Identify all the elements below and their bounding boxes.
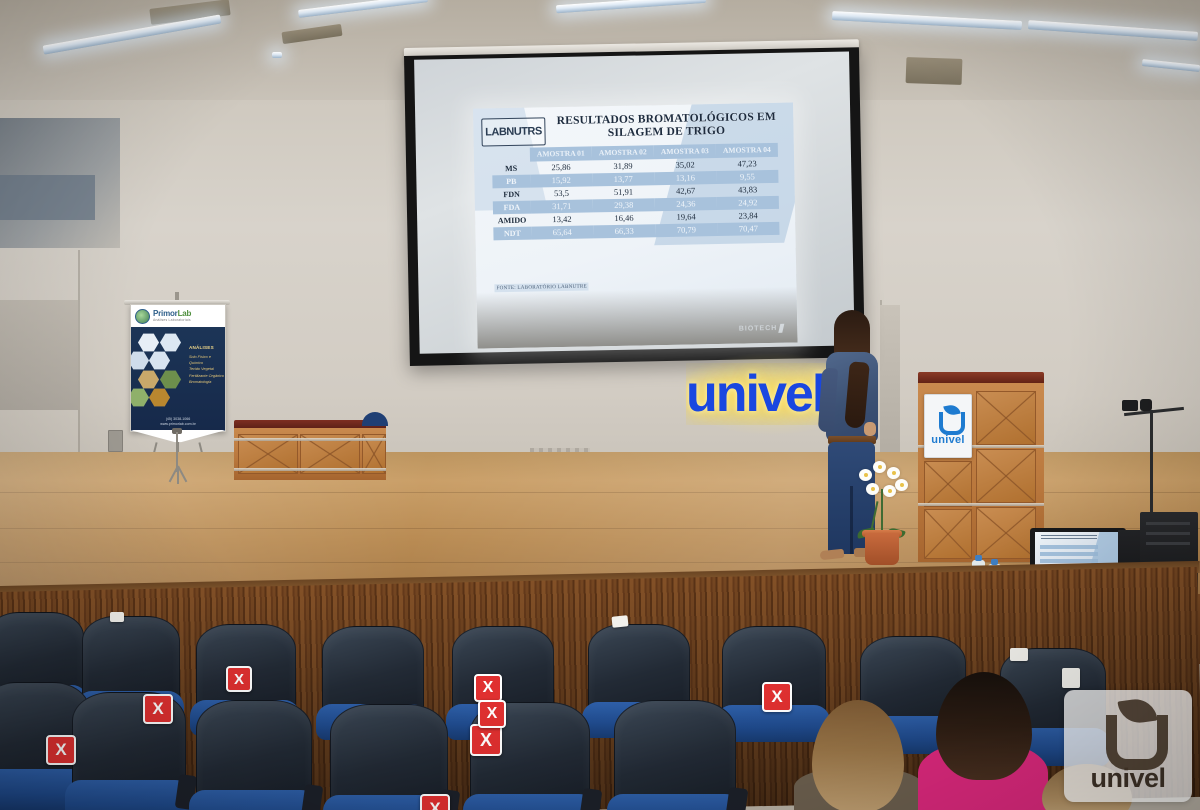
hex-icon-3	[130, 351, 149, 370]
cell-fdn-2: 51,91	[592, 185, 654, 199]
orchid-center	[892, 471, 896, 475]
col-amostra-03: AMOSTRA 03	[654, 144, 716, 159]
cell-ndt-1: 65,64	[531, 225, 593, 239]
cell-fda-2: 29,38	[593, 198, 655, 212]
orchid-bloom	[866, 483, 879, 495]
seat-cushion	[65, 780, 190, 810]
orchid-bloom	[873, 461, 886, 473]
cell-pb-2: 13,77	[592, 172, 654, 186]
wall-acoustic-panel	[0, 175, 95, 220]
list-item: Fertilizante Orgânico	[189, 373, 225, 379]
bottle-cap	[991, 559, 998, 565]
wall-socket-2	[108, 430, 123, 452]
stage-table	[234, 420, 386, 480]
banner-brand-name: PrimorLab	[153, 310, 191, 318]
distancing-sticker: X	[474, 674, 502, 702]
cell-amido-2: 16,46	[593, 211, 655, 225]
banner-tagline: Análises Laboratoriais	[153, 318, 191, 322]
floor-plank-line	[0, 562, 1200, 563]
hex-icon-1	[138, 333, 159, 352]
lectern-x-panel	[924, 509, 972, 559]
projected-slide: LABNUTRS RESULTADOS BROMATOLÓGICOS EM SI…	[473, 103, 798, 349]
orchid-bloom	[859, 469, 872, 481]
univel-logo-icon	[1100, 701, 1156, 761]
hex-icon-6	[160, 370, 181, 389]
hex-icon-5	[138, 370, 159, 389]
seat-armrest	[301, 783, 324, 810]
camera-icon	[1122, 400, 1138, 411]
banner-header: PrimorLab Análises Laboratoriais	[131, 305, 226, 327]
univel-watermark: univel	[1064, 690, 1192, 802]
presenter-shoe-left	[820, 549, 845, 560]
distancing-sticker: X	[762, 682, 792, 712]
mic-stand-leg	[177, 466, 179, 484]
distancing-sticker: X	[46, 735, 76, 765]
orchid-plant	[855, 455, 909, 565]
microphone-stand	[160, 432, 194, 484]
orchid-stem	[881, 489, 883, 535]
col-amostra-02: AMOSTRA 02	[592, 145, 654, 160]
row-label-ndt: NDT	[493, 227, 531, 241]
lectern-x-panel	[976, 507, 1036, 559]
labnutrs-logo: LABNUTRS	[481, 117, 546, 146]
lectern-x-panel	[924, 461, 972, 507]
cell-ndt-2: 66,33	[593, 224, 655, 238]
cell-pb-1: 15,92	[530, 173, 592, 187]
lectern-univel-text: univel	[931, 434, 965, 446]
cell-ndt-3: 70,79	[655, 223, 717, 237]
orchid-center	[900, 483, 904, 487]
wall-seam-left	[78, 250, 80, 460]
tripod-mast	[1150, 410, 1153, 518]
distancing-sticker: X	[226, 666, 252, 692]
orchid-center	[878, 465, 882, 469]
ceiling-light-recess-8	[906, 57, 963, 85]
seat-armrest	[724, 787, 748, 810]
hex-icon-7	[149, 388, 170, 407]
col-amostra-01: AMOSTRA 01	[530, 146, 592, 161]
cell-fda-1: 31,71	[531, 199, 593, 213]
projection-screen: LABNUTRS RESULTADOS BROMATOLÓGICOS EM SI…	[404, 47, 865, 366]
ceiling-light-9	[272, 52, 282, 58]
seat-cushion	[189, 790, 317, 810]
distancing-sticker: X	[478, 700, 506, 728]
slide-lower-shadow	[477, 287, 798, 349]
cell-ms-3: 35,02	[654, 158, 716, 172]
col-amostra-04: AMOSTRA 04	[716, 143, 778, 158]
stage-table-body	[234, 428, 386, 480]
cell-fdn-4: 43,83	[716, 183, 778, 197]
audience-hair	[812, 700, 904, 810]
banner-brand-block: PrimorLab Análises Laboratoriais	[153, 310, 191, 322]
cell-fda-4: 24,92	[717, 196, 779, 210]
distancing-sticker: X	[143, 694, 173, 724]
bottle-cap	[975, 555, 982, 561]
orchid-bloom	[883, 485, 896, 497]
lectern-x-panel	[976, 449, 1036, 503]
hex-icon-2	[160, 333, 181, 352]
cell-pb-4: 9,55	[716, 170, 778, 184]
cell-ms-1: 25,86	[530, 160, 592, 174]
wall-side-panel	[0, 300, 78, 410]
univel-u-shape	[939, 412, 965, 435]
row-label-fda: FDA	[493, 201, 531, 215]
banner-contact: (45) 3038-1066 www.primorlab.com.br	[131, 417, 225, 427]
cell-fdn-3: 42,67	[654, 184, 716, 198]
seat-cushion	[463, 794, 595, 810]
distancing-sticker: X	[470, 724, 502, 756]
orchid-center	[864, 473, 868, 477]
monitor-slide-row	[1040, 552, 1098, 556]
orchid-center	[888, 489, 892, 493]
audience-head-dark	[936, 672, 1032, 780]
row-label-fdn: FDN	[493, 188, 531, 202]
list-item: Solo Físico e Químico	[189, 354, 225, 366]
hex-icon-8	[130, 388, 149, 407]
row-label-pb: PB	[492, 175, 530, 189]
results-table-corner	[492, 148, 530, 163]
banner-navy-field: ANÁLISES Solo Físico e Químico Tecido Ve…	[131, 327, 225, 431]
cell-amido-3: 19,64	[655, 210, 717, 224]
presenter-hand	[864, 422, 876, 436]
cell-ndt-4: 70,47	[717, 222, 779, 236]
slide-title: RESULTADOS BROMATOLÓGICOS EM SILAGEM DE …	[547, 111, 785, 142]
audience-head-blonde	[812, 700, 904, 810]
table-rail	[234, 468, 386, 471]
primorlab-leaf-icon	[135, 309, 150, 324]
audience-hair	[936, 672, 1032, 780]
seat-reserved-card	[1062, 668, 1080, 688]
seat	[614, 700, 734, 810]
banner-brand-primor: Primor	[153, 309, 178, 318]
monitor-slide-title	[1041, 535, 1097, 541]
list-item: Bromatologia	[189, 379, 225, 385]
screen-surface: LABNUTRS RESULTADOS BROMATOLÓGICOS EM SI…	[414, 51, 855, 353]
results-table-body: MS 25,86 31,89 35,02 47,23 PB 15,92 13,7…	[492, 157, 779, 240]
banner-hex-grid	[136, 333, 188, 409]
cell-amido-1: 13,42	[531, 212, 593, 226]
seat-reserved-card	[1010, 648, 1028, 661]
cell-ms-4: 47,23	[716, 157, 778, 171]
seat	[196, 700, 310, 810]
univel-watermark-u-shape	[1106, 715, 1168, 770]
slide-brand-text: BIOTECH	[739, 325, 778, 333]
lectern: univel	[918, 372, 1044, 562]
seat-reserved-card	[611, 615, 628, 628]
cell-amido-4: 23,84	[717, 209, 779, 223]
orchid-bloom	[895, 479, 908, 491]
distancing-sticker: X	[420, 794, 450, 810]
univel-u-icon	[937, 406, 959, 432]
banner-heading: ANÁLISES	[189, 345, 223, 350]
cell-fdn-1: 53,5	[530, 186, 592, 200]
auditorium-photo: LABNUTRS RESULTADOS BROMATOLÓGICOS EM SI…	[0, 0, 1200, 810]
row-label-amido: AMIDO	[493, 214, 531, 228]
seat-reserved-card	[110, 612, 124, 622]
presenter-leg-seam	[850, 486, 853, 554]
cell-pb-3: 13,16	[654, 171, 716, 185]
lectern-rail	[918, 503, 1044, 506]
seat-cushion	[607, 794, 741, 810]
cell-fda-3: 24,36	[655, 197, 717, 211]
banner-website: www.primorlab.com.br	[131, 422, 225, 427]
hex-icon-4	[149, 351, 170, 370]
seat-armrest	[579, 788, 603, 810]
lectern-univel-plaque: univel	[924, 394, 972, 458]
row-label-ms: MS	[492, 162, 530, 176]
slide-brand-logo: BIOTECH	[739, 324, 784, 334]
banner-body: PrimorLab Análises Laboratoriais ANÁLISE…	[130, 304, 226, 432]
table-rail	[234, 438, 386, 441]
lectern-x-panel	[976, 391, 1036, 445]
tower-vent	[1146, 542, 1190, 545]
orchid-pot	[865, 533, 899, 565]
orchid-bloom	[887, 467, 900, 479]
results-table: AMOSTRA 01 AMOSTRA 02 AMOSTRA 03 AMOSTRA…	[492, 143, 780, 240]
banner-brand-lab: Lab	[178, 309, 192, 318]
camera-tripod	[1118, 398, 1184, 518]
monitor-slide-row	[1040, 545, 1098, 549]
banner-service-list: Solo Físico e Químico Tecido Vegetal Fer…	[189, 354, 225, 385]
tower-vent	[1146, 532, 1190, 535]
tower-vent	[1146, 522, 1190, 525]
cell-ms-2: 31,89	[592, 159, 654, 173]
orchid-center	[871, 487, 875, 491]
